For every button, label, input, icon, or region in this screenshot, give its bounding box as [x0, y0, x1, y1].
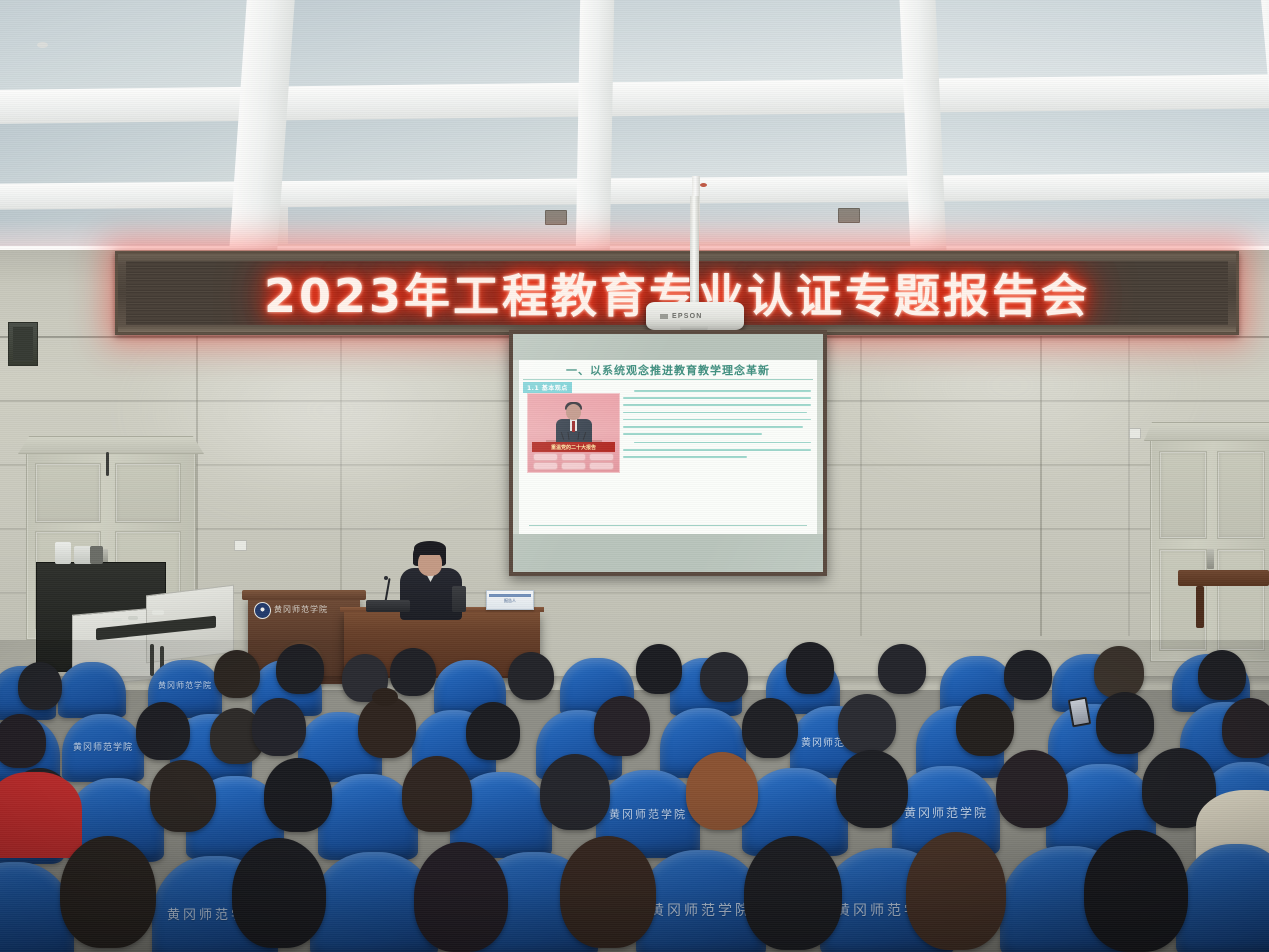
audience-head — [1222, 698, 1269, 758]
audience-head — [150, 760, 216, 832]
seat-label: 黄冈师范学院 — [892, 804, 1000, 821]
microphone-head-left — [384, 576, 388, 580]
slide-content: 一、以系统观念推进教育教学理念革新 1.1 基本观点 重 — [519, 360, 817, 534]
audience-seating: 黄冈师范学院 黄冈师范学院 黄冈师范学院 — [0, 640, 1269, 952]
audience-head — [264, 758, 332, 832]
seat[interactable]: 黄冈师范学院 — [62, 714, 144, 782]
seat-label: 黄冈师范学院 — [596, 806, 700, 822]
audience-head — [60, 836, 156, 948]
slide-chip — [533, 453, 558, 461]
audience-head — [742, 698, 798, 758]
slide-chip — [561, 453, 586, 461]
audience-head — [136, 702, 190, 760]
audience-head — [508, 652, 554, 700]
audience-head — [996, 750, 1068, 828]
console-button-b[interactable] — [128, 616, 138, 620]
box-icon — [90, 546, 103, 564]
audience-head — [18, 662, 62, 710]
laptop-icon — [366, 600, 410, 612]
smoke-detector-icon — [37, 42, 48, 48]
seat[interactable] — [58, 662, 126, 718]
audience-head — [1198, 650, 1246, 700]
audience-head — [1084, 830, 1188, 952]
audience-head — [686, 752, 758, 830]
audience-head — [1094, 646, 1144, 698]
ceiling-light-right — [838, 208, 860, 223]
ceiling — [0, 0, 1269, 262]
audience-head — [700, 652, 748, 702]
slide-body-text — [623, 390, 811, 463]
wall-speaker-icon — [8, 322, 38, 366]
audience-head — [276, 644, 324, 694]
slide-photo-caption-bar: 重温党的二十大报告 — [532, 442, 615, 452]
slide-badge: 1.1 基本观点 — [523, 382, 572, 393]
audience-head — [466, 702, 520, 760]
audience-head — [906, 832, 1006, 950]
audience-head — [414, 842, 508, 952]
slide-chip — [589, 453, 614, 461]
audience-head — [232, 838, 326, 948]
slide-chip — [533, 462, 558, 470]
kettle-icon — [55, 542, 71, 564]
slide-title: 一、以系统观念推进教育教学理念革新 — [519, 362, 817, 378]
audience-head — [636, 644, 682, 694]
slide-photo: 重温党的二十大报告 — [527, 393, 620, 473]
door-handle-right[interactable] — [1207, 549, 1214, 569]
lecture-hall-photo: 2023年工程教育专业认证专题报告会 EPSON 一、以系统观念推进教育教学理念… — [0, 0, 1269, 952]
audience-head — [402, 756, 472, 832]
seat-label: 黄冈师范学院 — [62, 740, 144, 753]
slide-chip — [561, 462, 586, 470]
audience-shoulder-red — [0, 772, 82, 858]
console-button-a[interactable] — [112, 618, 122, 622]
wall-outlet-right — [1129, 428, 1141, 439]
seat[interactable] — [1176, 844, 1269, 952]
side-table-right — [1178, 570, 1269, 586]
lectern-emblem-icon — [254, 602, 271, 619]
audience-head — [878, 644, 926, 694]
wall-outlet-mid — [234, 540, 247, 551]
audience-head — [252, 698, 306, 756]
ceiling-light-left — [545, 210, 567, 225]
audience-head — [1096, 692, 1154, 754]
door-cable — [106, 452, 109, 476]
audience-head — [594, 696, 650, 756]
audience-head — [0, 714, 46, 768]
audience-head — [214, 650, 260, 698]
console-button-c[interactable] — [152, 610, 164, 615]
audience-head — [540, 754, 610, 830]
side-table-leg — [1196, 586, 1204, 628]
slide-chip — [589, 462, 614, 470]
projection-screen: 一、以系统观念推进教育教学理念革新 1.1 基本观点 重 — [509, 330, 827, 576]
audience-head — [838, 694, 896, 754]
presenter-hair-top — [414, 541, 446, 555]
smoke-detector-icon-2 — [700, 183, 707, 187]
seat-label: 黄冈师范学院 — [148, 680, 222, 691]
audience-head — [836, 750, 908, 828]
audience-head — [744, 836, 842, 950]
name-plate-text: 报告人 — [487, 598, 533, 604]
audience-head — [786, 642, 834, 694]
thermos-cup — [452, 586, 466, 612]
slide-photo-caption: 重温党的二十大报告 — [532, 444, 615, 451]
audience-head — [956, 694, 1014, 756]
audience-hair-bun — [372, 688, 398, 706]
projector-brand-label: EPSON — [672, 313, 703, 320]
audience-head — [560, 836, 656, 948]
name-plate: 报告人 — [486, 590, 534, 610]
projector-mount-pole — [690, 196, 699, 308]
lectern-text: 黄冈师范学院 — [274, 604, 328, 615]
door-right[interactable] — [1150, 438, 1269, 662]
audience-head — [1004, 650, 1052, 700]
audience-head — [390, 648, 436, 696]
